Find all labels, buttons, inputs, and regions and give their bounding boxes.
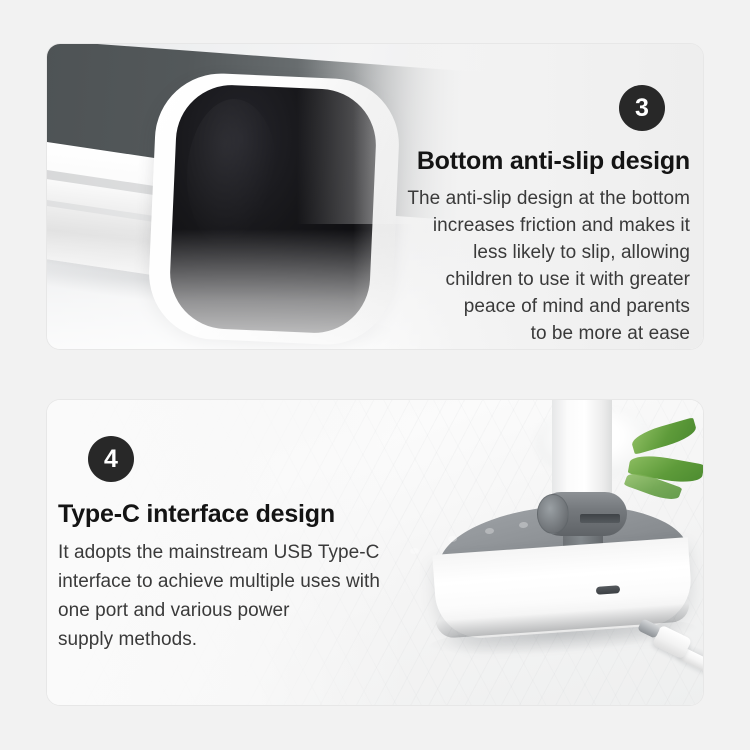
body-line: increases friction and makes it (372, 212, 690, 239)
body-line: one port and various power (58, 596, 388, 625)
feature-body-4: It adopts the mainstream USB Type-C inte… (58, 538, 388, 654)
infographic-page: 3 Bottom anti-slip design The anti-slip … (0, 0, 750, 750)
body-line: interface to achieve multiple uses with (58, 567, 388, 596)
body-line: to be more at ease (372, 320, 690, 347)
feature-body-3: The anti-slip design at the bottom incre… (372, 185, 690, 347)
feature-title-3: Bottom anti-slip design (372, 147, 690, 175)
lamp-pole (552, 400, 612, 500)
feature-card-3: 3 Bottom anti-slip design The anti-slip … (47, 44, 703, 349)
feature-text-3: Bottom anti-slip design The anti-slip de… (372, 147, 690, 347)
feature-card-4: 4 Type-C interface design It adopts the … (47, 400, 703, 705)
body-line: The anti-slip design at the bottom (372, 185, 690, 212)
body-line: peace of mind and parents (372, 293, 690, 320)
hinge-slot (580, 514, 620, 523)
feature-text-4: Type-C interface design It adopts the ma… (58, 500, 388, 654)
body-line: children to use it with greater (372, 266, 690, 293)
body-line: supply methods. (58, 625, 388, 654)
step-badge-4: 4 (88, 436, 134, 482)
hinge-end-cap (537, 494, 569, 534)
body-line: It adopts the mainstream USB Type-C (58, 538, 388, 567)
feature-title-4: Type-C interface design (58, 500, 388, 528)
step-badge-3: 3 (619, 85, 665, 131)
body-line: less likely to slip, allowing (372, 239, 690, 266)
usb-type-c-port (596, 585, 620, 595)
